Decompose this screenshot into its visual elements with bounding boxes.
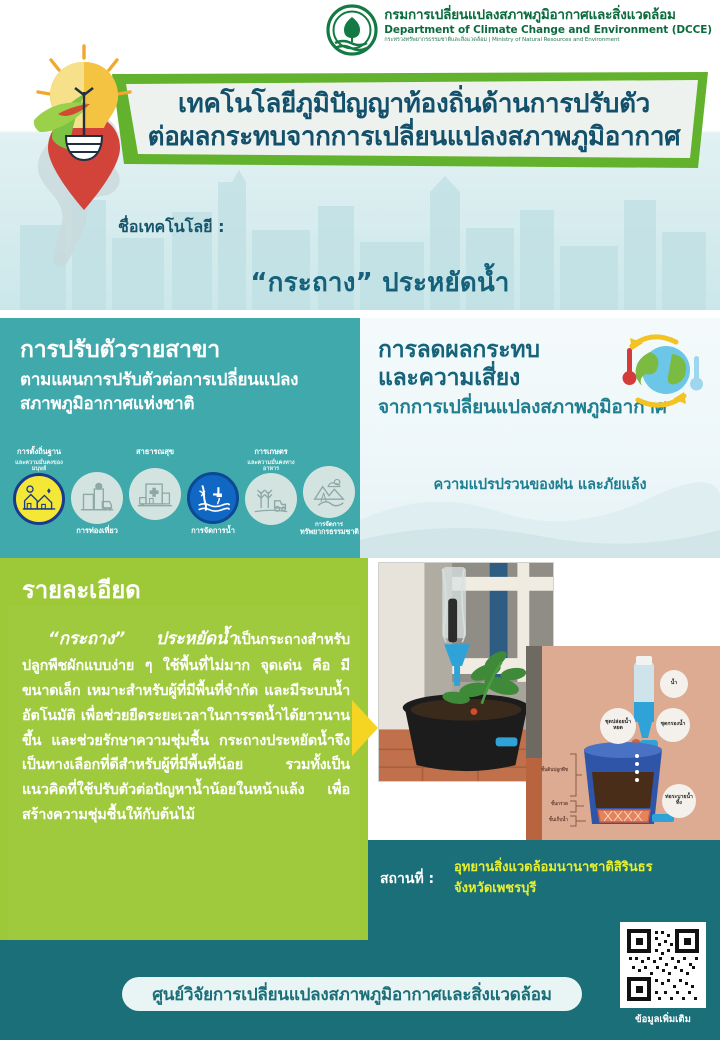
adaptation-panel: การปรับตัวรายสาขา ตามแผนการปรับตัวต่อการ… xyxy=(0,318,360,558)
tech-name-value: “กระถาง” ประหยัดน้ำ xyxy=(0,262,720,303)
label-gravel-layer: ชั้นกรวด xyxy=(530,802,568,808)
location-label: สถานที่ : xyxy=(380,868,434,890)
sector-sublabel-natural-resources: ทรัพยากรธรรมชาติ xyxy=(300,528,358,536)
dcce-emblem-icon xyxy=(326,4,378,56)
mitigation-note: ความแปรปรวนของฝน และภัยแล้ง xyxy=(360,473,720,496)
sector-sublabel-settlement: และความมั่นคงของมนุษย์ xyxy=(10,460,68,473)
label-soil-layer: ชั้นดินปลูกพืช xyxy=(530,768,568,774)
sector-sublabel-agriculture: และความมั่นคงทางอาหาร xyxy=(242,460,300,473)
sector-label-settlement: การตั้งถิ่นฐาน xyxy=(10,448,68,457)
details-heading: รายละเอียด xyxy=(22,570,350,609)
crops-tractor-icon xyxy=(245,473,297,525)
details-body-text: เป็นกระถางสำหรับปลูกพืชผักแบบง่าย ๆ ใช้พ… xyxy=(22,632,350,823)
adaptation-heading: การปรับตัวรายสาขา xyxy=(20,336,344,365)
adaptation-sub-line2: สภาพภูมิอากาศแห่งชาติ xyxy=(20,393,344,417)
sector-item-water[interactable]: การจัดการน้ำ xyxy=(184,472,242,536)
tourism-city-car-icon xyxy=(71,472,123,524)
sector-icon-row: การตั้งถิ่นฐาน และความมั่นคงของมนุษย์ xyxy=(4,448,356,556)
main-title-banner: เทคโนโลยีภูมิปัญญาท้องถิ่นด้านการปรับตัว… xyxy=(112,72,708,170)
org-name-en: Department of Climate Change and Environ… xyxy=(384,24,712,38)
yellow-right-arrow-icon xyxy=(352,700,382,756)
details-panel: รายละเอียด “กระถาง” ประหยัดน้ำเป็นกระถาง… xyxy=(0,558,368,950)
water-saving-pot-diagram: น้ำ ชุดกรองน้ำ ชุดปล่อยน้ำหยด ท่อระบายน้… xyxy=(526,646,720,840)
details-body: “กระถาง” ประหยัดน้ำเป็นกระถางสำหรับปลูกพ… xyxy=(22,625,350,828)
river-faucet-icon xyxy=(187,472,239,524)
poster-root: กรมการเปลี่ยนแปลงสภาพภูมิอากาศและสิ่งแวด… xyxy=(0,0,720,1040)
sector-label-water: การจัดการน้ำ xyxy=(184,527,242,536)
qr-code[interactable] xyxy=(620,922,706,1008)
label-drip-release-unit: ชุดปล่อยน้ำหยด xyxy=(600,708,636,744)
details-lead: “กระถาง” ประหยัดน้ำ xyxy=(48,629,237,649)
location-line-1: อุทยานสิ่งแวดล้อมนานาชาติสิรินธร xyxy=(454,858,654,879)
label-drain-pipe: ท่อระบายน้ำทิ้ง xyxy=(662,784,696,818)
qr-caption: ข้อมูลเพิ่มเติม xyxy=(620,1012,706,1027)
hospital-ambulance-icon xyxy=(129,468,181,520)
location-value: อุทยานสิ่งแวดล้อมนานาชาติสิรินธร จังหวัด… xyxy=(454,858,654,900)
label-water-storage-layer: ชั้นเก็บน้ำ xyxy=(530,818,568,824)
mitigation-panel: การลดผลกระทบ และความเสี่ยง จากการเปลี่ยน… xyxy=(360,318,720,558)
sector-item-health[interactable]: สาธารณสุข xyxy=(126,448,184,520)
org-name-th: กรมการเปลี่ยนแปลงสภาพภูมิอากาศและสิ่งแวด… xyxy=(384,8,712,24)
location-line-2: จังหวัดเพชรบุรี xyxy=(454,879,654,900)
footer-center-name: ศูนย์วิจัยการเปลี่ยนแปลงสภาพภูมิอากาศและ… xyxy=(152,981,552,1008)
tech-name-label: ชื่อเทคโนโลยี : xyxy=(118,215,224,240)
org-ministry-line: กระทรวงทรัพยากรธรรมชาติและสิ่งแวดล้อม | … xyxy=(384,37,712,44)
sector-item-natural-resources[interactable]: การจัดการ ทรัพยากรธรรมชาติ xyxy=(300,466,358,536)
sector-label-agriculture: การเกษตร xyxy=(242,448,300,457)
mountain-forest-icon xyxy=(303,466,355,518)
label-water-filter-unit: ชุดกรองน้ำ xyxy=(656,708,690,742)
adaptation-sub-line1: ตามแผนการปรับตัวต่อการเปลี่ยนแปลง xyxy=(20,369,344,393)
label-water: น้ำ xyxy=(660,670,688,698)
lightbulb-leaf-map-pin-icon xyxy=(18,40,150,212)
sector-label-health: สาธารณสุข xyxy=(126,448,184,457)
org-logo-block: กรมการเปลี่ยนแปลงสภาพภูมิอากาศและสิ่งแวด… xyxy=(326,4,712,56)
sector-label-tourism: การท่องเที่ยว xyxy=(68,527,126,536)
village-houses-icon xyxy=(13,473,65,525)
sector-item-agriculture[interactable]: การเกษตร และความมั่นคงทางอาหาร xyxy=(242,448,300,525)
footer-center-name-pill: ศูนย์วิจัยการเปลี่ยนแปลงสภาพภูมิอากาศและ… xyxy=(122,977,582,1011)
title-line-2: ต่อผลกระทบจากการเปลี่ยนแปลงสภาพภูมิอากาศ xyxy=(148,122,681,154)
title-line-1: เทคโนโลยีภูมิปัญญาท้องถิ่นด้านการปรับตัว xyxy=(178,89,650,121)
sector-item-settlement[interactable]: การตั้งถิ่นฐาน และความมั่นคงของมนุษย์ xyxy=(10,448,68,525)
sector-item-tourism[interactable]: การท่องเที่ยว xyxy=(68,472,126,536)
globe-thermometer-cycle-icon xyxy=(610,330,706,414)
